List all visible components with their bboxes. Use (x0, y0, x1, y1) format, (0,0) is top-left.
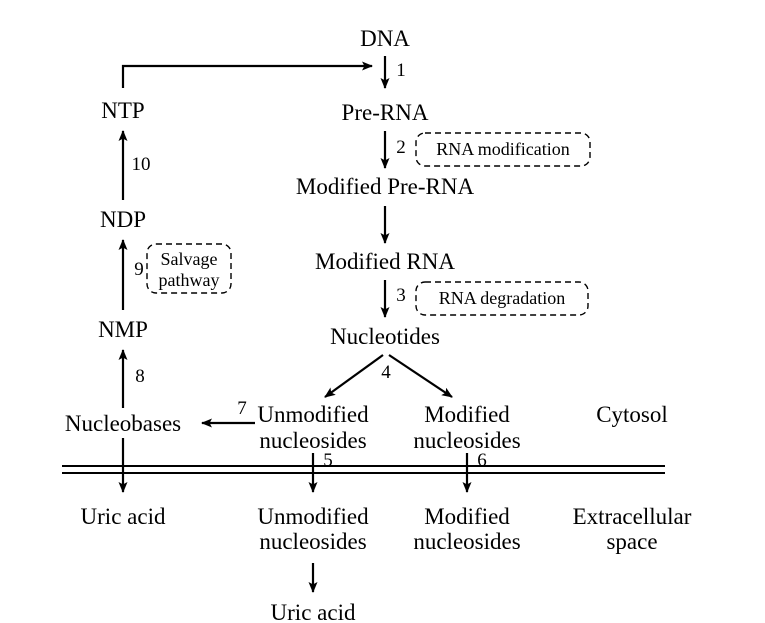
arrow-ntp-to-transcription (123, 66, 372, 88)
label-extracellular-space-line1: Extracellularspace (573, 504, 692, 554)
node-nucleobases: Nucleobases (65, 411, 181, 436)
annotation-rna-degradation: RNA degradation (439, 288, 565, 308)
step-label-2: 2 (396, 137, 406, 158)
step-label-3: 3 (396, 285, 406, 306)
node-nucleotides: Nucleotides (330, 324, 440, 349)
annotation-salvage-pathway-line2: pathway (159, 270, 220, 290)
annotation-salvage-pathway-line1: Salvage (161, 249, 218, 269)
step-label-9: 9 (134, 259, 144, 280)
node-unmodified-nucleosides-line2: nucleosides (259, 428, 366, 453)
arrow-nucleotides-to-unmodified-nucleosides (325, 355, 383, 397)
node-modified-nucleosides-out-line2: nucleosides (413, 529, 520, 554)
arrow-nucleotides-to-modified-nucleosides (389, 355, 452, 397)
step-label-1: 1 (396, 60, 406, 81)
node-uric-acid-left: Uric acid (81, 504, 166, 529)
node-modified-rna: Modified RNA (315, 249, 455, 274)
node-modified-nucleosides-line1: Modified (424, 402, 510, 427)
step-label-7: 7 (237, 398, 247, 419)
step-label-4: 4 (381, 362, 391, 383)
node-modified-pre-rna: Modified Pre-RNA (296, 174, 475, 199)
step-label-8: 8 (135, 366, 145, 387)
node-dna: DNA (360, 26, 410, 51)
node-unmodified-nucleosides-line1: Unmodified (257, 402, 369, 427)
node-ntp: NTP (101, 98, 144, 123)
node-nmp: NMP (98, 317, 148, 342)
node-ndp: NDP (100, 207, 146, 232)
node-unmodified-nucleosides-out-line2: nucleosides (259, 529, 366, 554)
annotation-rna-modification: RNA modification (436, 139, 570, 159)
node-modified-nucleosides-line2: nucleosides (413, 428, 520, 453)
node-uric-acid-bottom: Uric acid (271, 600, 356, 623)
node-pre-rna: Pre-RNA (342, 100, 429, 125)
step-label-6: 6 (477, 450, 487, 471)
step-label-10: 10 (132, 154, 151, 175)
node-modified-nucleosides-out-line1: Modified (424, 504, 510, 529)
label-cytosol: Cytosol (596, 402, 668, 427)
diagram-canvas: DNA 1 Pre-RNA 2 RNA modification Modifie… (0, 0, 765, 623)
pathway-diagram: DNA 1 Pre-RNA 2 RNA modification Modifie… (0, 0, 765, 623)
node-unmodified-nucleosides-out-line1: Unmodified (257, 504, 369, 529)
step-label-5: 5 (323, 450, 333, 471)
